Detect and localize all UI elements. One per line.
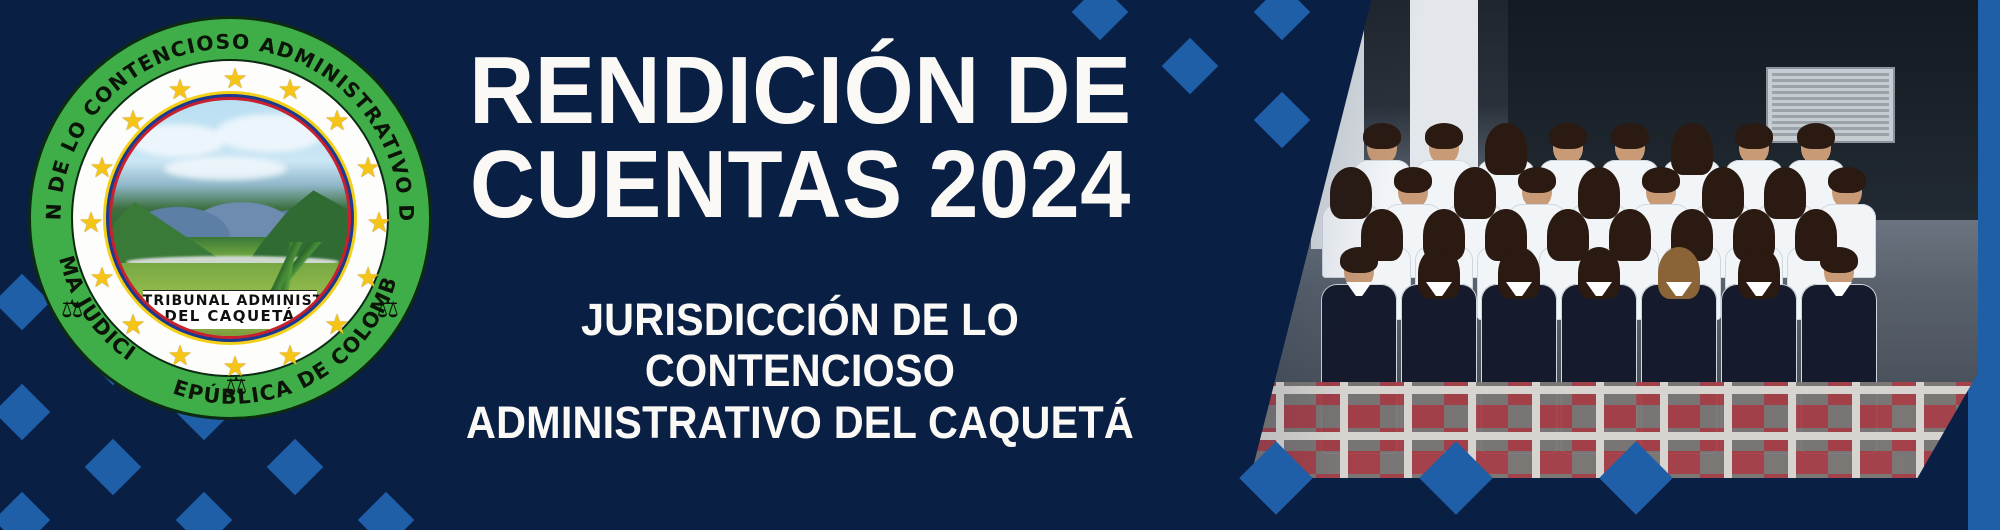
seal-landscape-photo: TRIBUNAL ADMINISTRATIVO DEL CAQUETÁ [112,100,348,336]
tribunal-seal: JURISDICCIÓN DE LO CONTENCIOSO ADMINISTR… [28,16,432,420]
seal-star: ★ [221,65,249,93]
seal-star: ★ [166,342,194,370]
seal-star: ★ [354,154,382,182]
seal-star: ★ [276,342,304,370]
seal-tricolor-red-ring: TRIBUNAL ADMINISTRATIVO DEL CAQUETÁ [109,97,351,339]
seal-star: ★ [323,107,351,135]
seal-plate-line-2: DEL CAQUETÁ [143,309,318,325]
seal-tricolor-blue-ring: TRIBUNAL ADMINISTRATIVO DEL CAQUETÁ [106,94,354,342]
seal-star: ★ [221,353,249,381]
seal-tricolor-yellow-ring: TRIBUNAL ADMINISTRATIVO DEL CAQUETÁ [103,91,357,345]
seal-star: ★ [77,209,105,237]
page-subtitle: JURISDICCIÓN DE LO CONTENCIOSO ADMINISTR… [460,294,1141,448]
seal-star: ★ [276,76,304,104]
page-title: RENDICIÓN DE CUENTAS 2024 [469,44,1131,232]
decor-diamond [85,439,142,496]
seal-name-plate: TRIBUNAL ADMINISTRATIVO DEL CAQUETÁ [143,290,318,329]
scales-of-justice-icon: ⚖ [377,297,399,322]
rendicion-de-cuentas-banner: JURISDICCIÓN DE LO CONTENCIOSO ADMINISTR… [0,0,2000,530]
seal-star: ★ [365,209,393,237]
decor-diamond [176,492,233,530]
group-photo-image [1220,0,1978,478]
seal-star: ★ [354,264,382,292]
decor-diamond [358,492,415,530]
headline-block: RENDICIÓN DE CUENTAS 2024 JURISDICCIÓN D… [430,0,1170,530]
decor-diamond [0,492,50,530]
decor-diamond [267,439,324,496]
scales-of-justice-icon: ⚖ [61,297,83,322]
group-photo-panel [1190,0,2000,530]
